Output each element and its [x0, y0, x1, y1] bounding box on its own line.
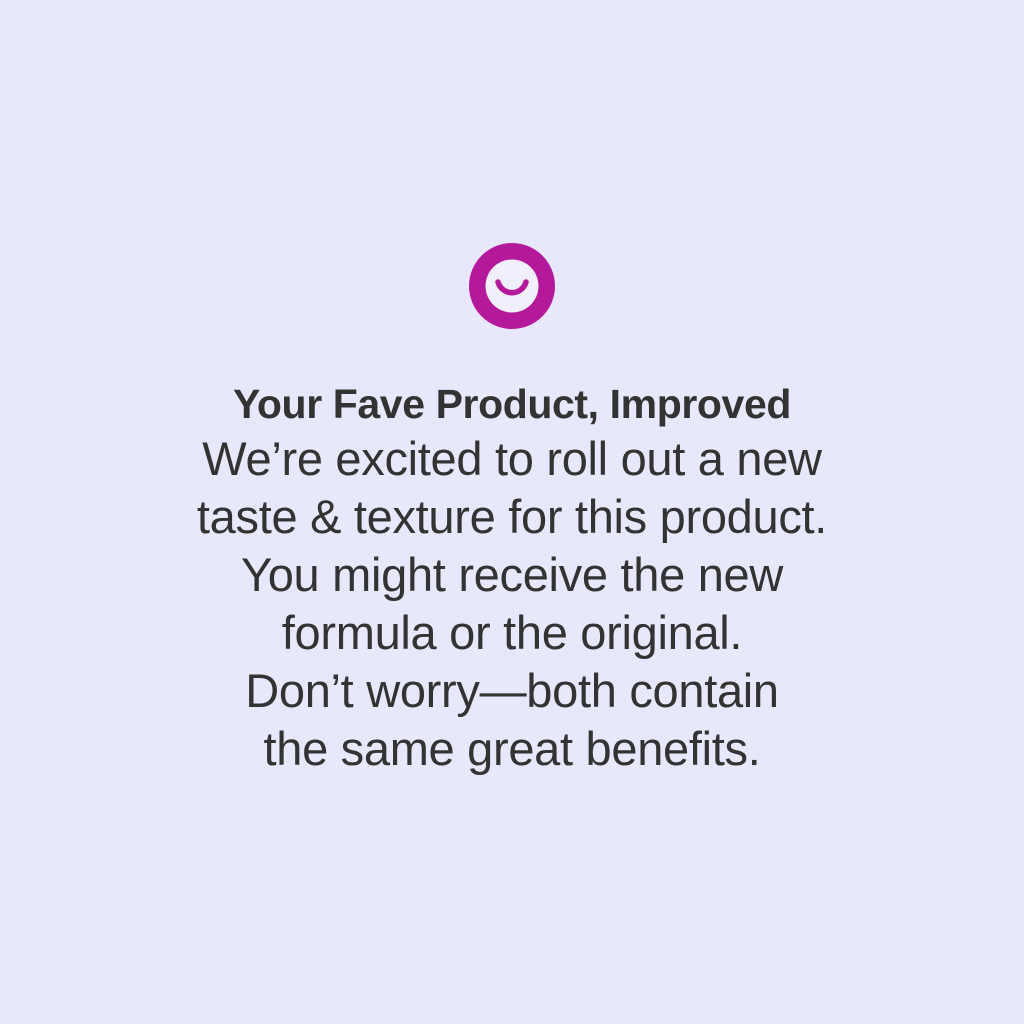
body-copy-line: the same great benefits. [0, 720, 1024, 778]
logo-face-disc [486, 260, 539, 313]
announcement-card: Your Fave Product, Improved We’re excite… [0, 0, 1024, 1024]
body-copy-line: You might receive the new [0, 546, 1024, 604]
body-copy: We’re excited to roll out a new taste & … [0, 430, 1024, 778]
body-copy-line: taste & texture for this product. [0, 488, 1024, 546]
body-copy-line: We’re excited to roll out a new [0, 430, 1024, 488]
body-copy-line: Don’t worry—both contain [0, 662, 1024, 720]
body-copy-line: formula or the original. [0, 604, 1024, 662]
page-title: Your Fave Product, Improved [0, 380, 1024, 428]
smiley-circle-logo [468, 242, 556, 330]
